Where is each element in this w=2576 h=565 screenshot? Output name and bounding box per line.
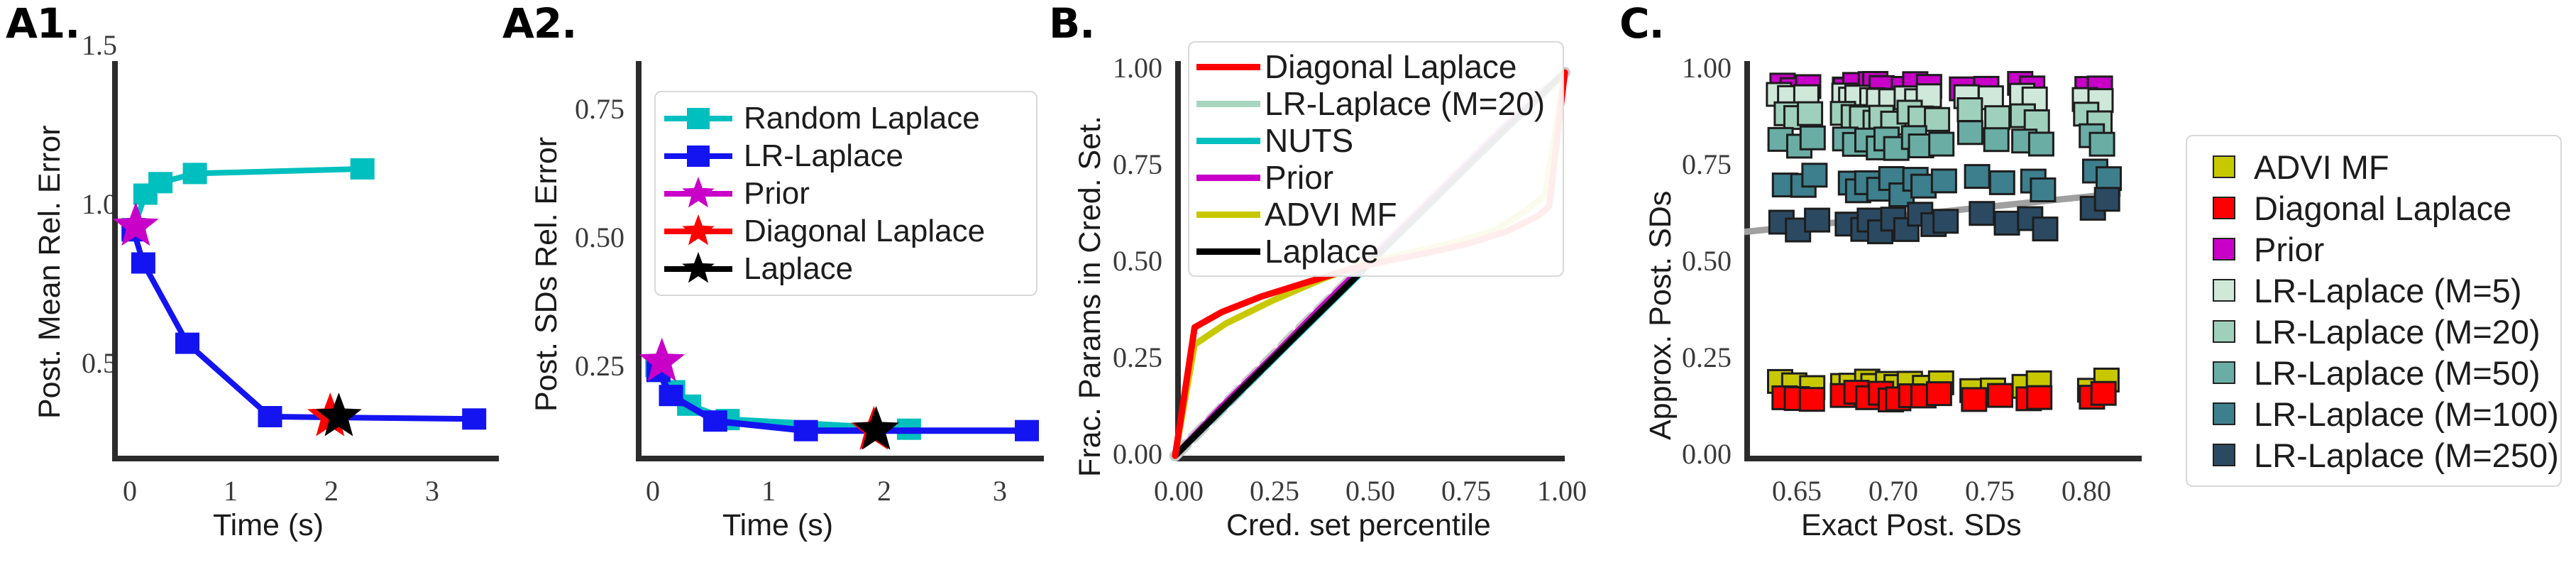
data-point (659, 385, 683, 406)
legend-item: Prior (2198, 229, 2549, 270)
data-point (1015, 420, 1039, 441)
data-point (794, 420, 818, 441)
legend-line-icon (1196, 199, 1260, 230)
legend-label: LR-Laplace (M=20) (2254, 312, 2541, 351)
data-point (1995, 212, 2019, 234)
legend-item: LR-Laplace (M=20) (2198, 311, 2549, 352)
legend-star-icon (664, 215, 732, 248)
legend-square-icon (2213, 320, 2235, 343)
legend-square-icon (2213, 155, 2235, 178)
legend-line-icon (1196, 125, 1260, 156)
legend-item: Laplace (1196, 233, 1556, 270)
legend-item: ADVI MF (1196, 196, 1556, 233)
legend-item: LR-Laplace (M=20) (1196, 85, 1556, 122)
panel-b-legend: Diagonal LaplaceLR-Laplace (M=20)NUTSPri… (1188, 41, 1564, 277)
marker-star-laplace (853, 406, 899, 450)
legend-label: Diagonal Laplace (744, 214, 985, 249)
legend-label: Laplace (744, 251, 853, 287)
legend-star-icon (664, 177, 732, 210)
data-point (1958, 99, 1982, 121)
data-point (462, 408, 486, 429)
data-point (351, 158, 375, 180)
data-point (1798, 102, 1822, 125)
legend-label: Prior (744, 176, 810, 212)
data-point (1925, 108, 1949, 131)
data-point (1990, 171, 2014, 194)
data-point (175, 333, 199, 354)
data-point (2033, 218, 2057, 241)
data-point (2031, 179, 2055, 202)
legend-label: LR-Laplace (M=100) (2254, 395, 2559, 434)
legend-item: Prior (1196, 159, 1556, 196)
data-point (1965, 165, 1989, 188)
legend-item: LR-Laplace (M=50) (2198, 352, 2549, 393)
legend-label: LR-Laplace (M=5) (2254, 271, 2521, 310)
legend-item: Prior (664, 175, 1028, 212)
legend-label: ADVI MF (2254, 148, 2389, 187)
panel-c: C. Approx. Post. SDs Exact Post. SDs 1.0… (1618, 0, 2576, 565)
legend-item: LR-Laplace (M=5) (2198, 270, 2549, 311)
legend-square-icon (2213, 197, 2235, 219)
data-point (2095, 188, 2119, 211)
legend-label: LR-Laplace (M=20) (1265, 84, 1545, 123)
legend-item: Diagonal Laplace (664, 212, 1028, 250)
legend-item: ADVI MF (2198, 146, 2549, 187)
legend-line-icon (1196, 88, 1260, 119)
panel-a1-plot (0, 0, 511, 565)
legend-square-icon (2213, 444, 2235, 466)
panel-c-legend: ADVI MFDiagonal LaplacePriorLR-Laplace (… (2186, 135, 2562, 487)
legend-label: LR-Laplace (M=250) (2254, 436, 2559, 475)
data-point (1800, 126, 1824, 149)
panel-a1: A1. Post. Mean Rel. Error Time (s) 1.5 1… (0, 0, 511, 565)
data-point (1958, 121, 1982, 144)
legend-item: Laplace (664, 250, 1028, 287)
data-point (703, 410, 727, 432)
data-point (258, 406, 282, 427)
legend-line-icon (1196, 236, 1260, 267)
legend-square-icon (664, 140, 732, 172)
figure-root: A1. Post. Mean Rel. Error Time (s) 1.5 1… (0, 0, 2576, 565)
data-point (1970, 202, 1994, 225)
legend-star-icon (664, 253, 732, 285)
data-point (2027, 386, 2052, 409)
legend-line-icon (1196, 51, 1260, 82)
legend-item: Diagonal Laplace (2198, 187, 2549, 229)
legend-label: Diagonal Laplace (2254, 189, 2511, 228)
data-point (1932, 170, 1956, 192)
legend-item: LR-Laplace (664, 137, 1028, 175)
legend-line-icon (1196, 162, 1260, 193)
legend-label: NUTS (1265, 121, 1353, 160)
data-point (1988, 384, 2013, 407)
legend-square-icon (2213, 361, 2235, 384)
legend-item: LR-Laplace (M=250) (2198, 434, 2549, 476)
data-point (1962, 388, 1986, 411)
data-point (1800, 388, 1824, 411)
data-point (2091, 382, 2115, 405)
panel-b: B. Frac. Params in Cred. Set. Cred. set … (1043, 0, 1618, 565)
data-point (1805, 209, 1829, 231)
legend-square-icon (2213, 402, 2235, 425)
data-point (2097, 168, 2121, 190)
data-point (1930, 133, 1954, 155)
series-line-lr-laplace (133, 231, 474, 419)
data-point (1927, 383, 1951, 405)
legend-label: LR-Laplace (M=50) (2254, 353, 2541, 393)
legend-item: NUTS (1196, 122, 1556, 159)
legend-item: Random Laplace (664, 99, 1028, 137)
legend-label: LR-Laplace (744, 138, 903, 174)
legend-square-icon (2213, 238, 2235, 260)
legend-square-icon (2213, 279, 2235, 302)
panel-a2: A2. Post. SDs Rel. Error Time (s) 0.75 0… (497, 0, 1043, 565)
panel-a2-legend: Random LaplaceLR-LaplacePriorDiagonal La… (654, 91, 1037, 296)
data-point (2090, 133, 2114, 155)
legend-label: ADVI MF (1265, 195, 1397, 234)
data-point (1986, 106, 2010, 129)
data-point (2029, 133, 2053, 155)
legend-label: Prior (2254, 230, 2324, 269)
legend-square-icon (664, 102, 732, 135)
legend-item: Diagonal Laplace (1196, 48, 1556, 85)
legend-item: LR-Laplace (M=100) (2198, 393, 2549, 434)
legend-label: Diagonal Laplace (1265, 48, 1517, 86)
legend-label: Laplace (1265, 232, 1379, 270)
data-point (1802, 164, 1827, 187)
data-point (1984, 128, 2008, 151)
legend-label: Prior (1265, 158, 1333, 197)
data-point (183, 163, 207, 184)
data-point (1934, 210, 1958, 233)
data-point (131, 253, 155, 274)
data-point (148, 172, 172, 193)
legend-label: Random Laplace (744, 101, 980, 136)
